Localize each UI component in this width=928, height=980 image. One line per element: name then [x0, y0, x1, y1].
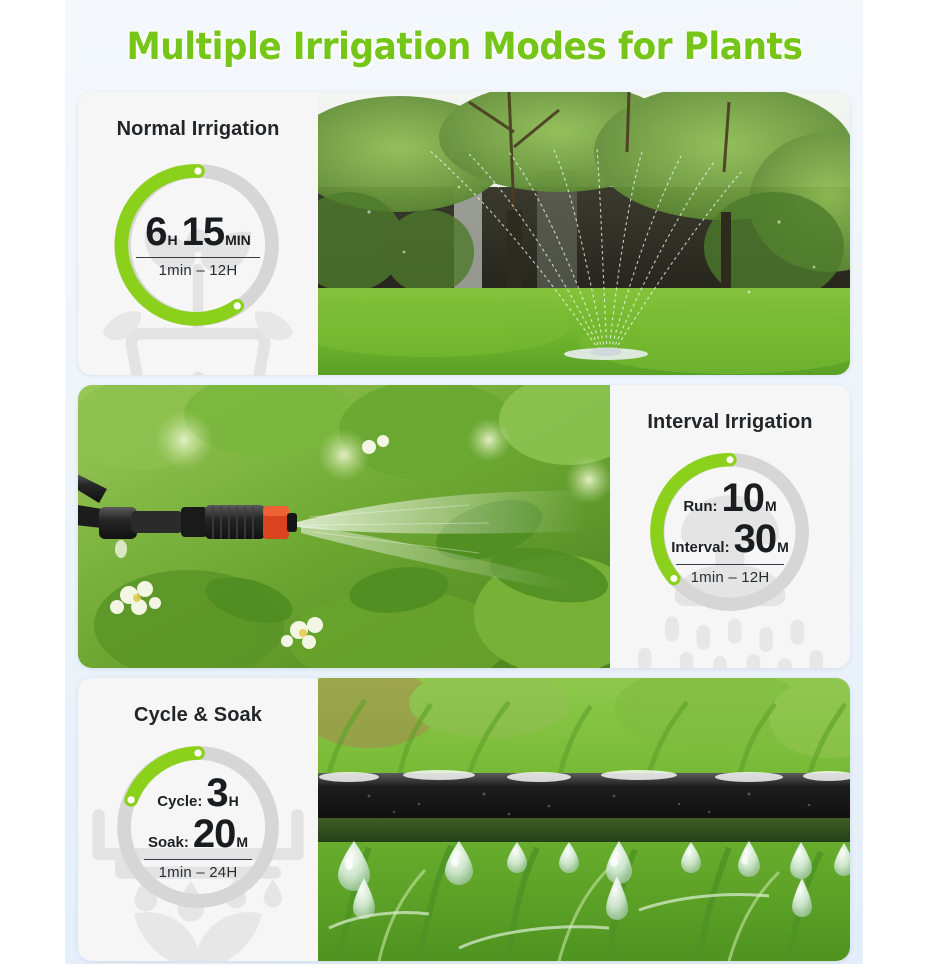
readout-stack: Run: 10 M Interval: 30 M: [671, 478, 789, 559]
soak-readout: Soak: 20 M: [148, 814, 248, 854]
mode-panel: Interval Irrigation: [610, 385, 850, 668]
gauge-readout: Run: 10 M Interval: 30 M 1min – 12H: [664, 466, 796, 598]
minutes-value: 15: [182, 212, 225, 252]
interval-readout: Interval: 30 M: [671, 519, 789, 559]
mode-photo-spray-nozzle: [78, 385, 610, 668]
mode-title: Interval Irrigation: [647, 411, 812, 434]
infographic-page: Multiple Irrigation Modes for Plants Nor…: [65, 0, 863, 964]
gauge-readout: 6 H 15 MIN 1min – 12H: [130, 177, 266, 313]
mode-title: Cycle & Soak: [134, 704, 262, 727]
hours-value: 6: [145, 212, 166, 252]
readout-divider: [144, 859, 252, 860]
range-label: 1min – 12H: [159, 262, 238, 279]
sprinkler-photo-illustration: [318, 92, 850, 375]
run-label: Run:: [683, 499, 717, 514]
cycle-value: 3: [206, 773, 227, 813]
interval-label: Interval:: [671, 540, 729, 555]
range-label: 1min – 24H: [159, 864, 238, 881]
gauge-end-dot: [726, 456, 733, 463]
run-value: 10: [721, 478, 764, 518]
gauge-cycle-soak: Cycle: 3 H Soak: 20 M 1min – 24H: [112, 741, 284, 913]
interval-unit: M: [777, 540, 789, 554]
soaker-hose-photo-illustration: [318, 678, 850, 961]
readout-divider: [136, 257, 260, 258]
range-label: 1min – 12H: [691, 569, 770, 586]
mode-photo-sprinkler: [318, 92, 850, 375]
mode-title: Normal Irrigation: [117, 118, 280, 141]
soak-label: Soak:: [148, 835, 189, 850]
gauge-readout: Cycle: 3 H Soak: 20 M 1min – 24H: [130, 759, 266, 895]
cycle-readout: Cycle: 3 H: [157, 773, 238, 813]
gauge-normal: 6 H 15 MIN 1min – 12H: [112, 159, 284, 331]
readout-stack: Cycle: 3 H Soak: 20 M: [148, 773, 248, 854]
mode-card-list: Normal Irrigation: [65, 92, 863, 961]
mode-panel: Normal Irrigation: [78, 92, 318, 375]
hours-unit: H: [167, 233, 177, 247]
soak-value: 20: [193, 814, 236, 854]
interval-value: 30: [734, 519, 777, 559]
cycle-label: Cycle:: [157, 794, 202, 809]
spray-nozzle-photo-illustration: [78, 385, 610, 668]
gauge-end-dot: [194, 167, 201, 174]
run-readout: Run: 10 M: [683, 478, 776, 518]
minutes-unit: MIN: [225, 233, 251, 247]
gauge-end-dot: [194, 749, 201, 756]
duration-readout: 6 H 15 MIN: [145, 212, 251, 252]
readout-divider: [676, 564, 784, 565]
mode-card-normal-irrigation: Normal Irrigation: [78, 92, 850, 375]
soak-unit: M: [236, 835, 248, 849]
mode-card-cycle-and-soak: Cycle & Soak: [78, 678, 850, 961]
mode-panel: Cycle & Soak: [78, 678, 318, 961]
gauge-interval: Run: 10 M Interval: 30 M 1min – 12H: [646, 448, 814, 616]
header: Multiple Irrigation Modes for Plants: [65, 0, 863, 92]
page-title: Multiple Irrigation Modes for Plants: [126, 25, 802, 68]
cycle-unit: H: [229, 794, 239, 808]
run-unit: M: [765, 499, 777, 513]
mode-card-interval-irrigation: Interval Irrigation: [78, 385, 850, 668]
mode-photo-soaker-hose: [318, 678, 850, 961]
